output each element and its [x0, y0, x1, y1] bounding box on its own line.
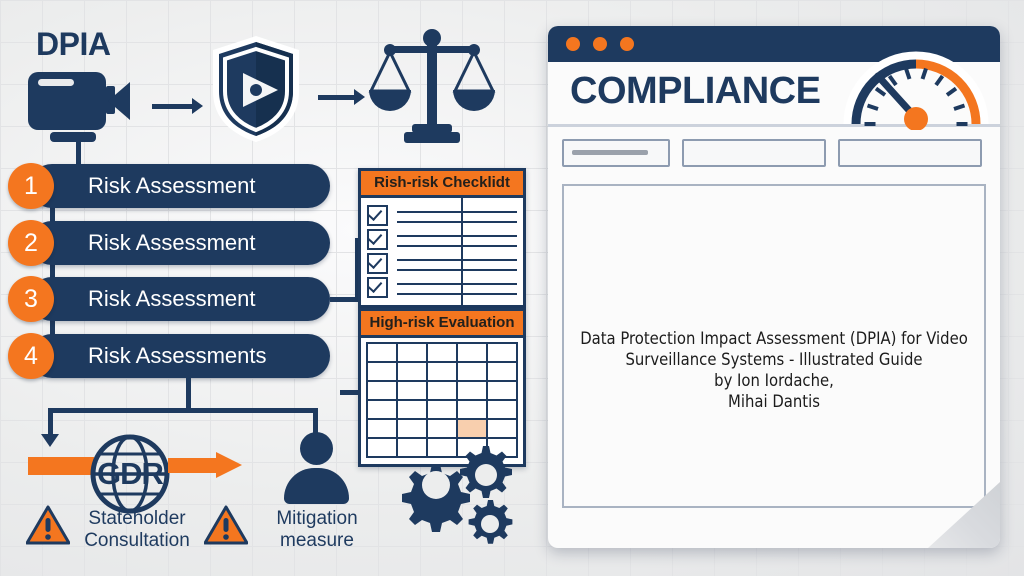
orange-arrow-icon — [168, 452, 240, 478]
row-lines — [397, 279, 517, 296]
mitigation-line1: Mitigation — [252, 508, 382, 530]
grid-cell — [488, 344, 518, 363]
grid-cell — [368, 363, 398, 382]
grid-cell — [458, 363, 488, 382]
toolbar-field-3[interactable] — [838, 139, 982, 167]
mitigation-line2: measure — [252, 530, 382, 552]
checklist-row[interactable] — [361, 203, 523, 227]
checkbox-checked[interactable] — [367, 277, 388, 298]
grid-cell-highlighted — [458, 420, 488, 439]
row-lines — [397, 255, 517, 272]
step-badge: 1 — [8, 163, 54, 209]
arrow-camera-to-shield — [152, 104, 194, 109]
person-icon — [280, 432, 352, 504]
evaluation-grid — [366, 342, 518, 458]
grid-cell — [398, 420, 428, 439]
grid-cell — [368, 382, 398, 401]
browser-header: COMPLIANCE — [548, 62, 1000, 127]
evaluation-panel-title: High-risk Evaluation — [361, 311, 523, 338]
grid-cell — [428, 344, 458, 363]
connector-branch-left-v — [48, 408, 53, 436]
toolbar-field-1[interactable] — [562, 139, 670, 167]
connector-eval-left — [340, 390, 360, 395]
grid-cell — [488, 420, 518, 439]
checkbox-checked[interactable] — [367, 229, 388, 250]
grid-cell — [488, 363, 518, 382]
grid-cell — [458, 401, 488, 420]
step-badge: 4 — [8, 333, 54, 379]
row-lines — [397, 231, 517, 248]
video-camera-icon — [28, 68, 146, 140]
dpia-title: DPIA — [36, 26, 110, 63]
grid-cell — [428, 401, 458, 420]
checklist-row[interactable] — [361, 251, 523, 275]
browser-window[interactable]: COMPLIANCE — [548, 26, 1000, 548]
grid-cell — [398, 344, 428, 363]
row-lines — [397, 207, 517, 224]
shield-play-icon — [208, 33, 304, 145]
warning-triangle-icon — [26, 505, 70, 545]
checklist-row[interactable] — [361, 227, 523, 251]
step-badge: 3 — [8, 276, 54, 322]
gears-icon — [388, 442, 528, 560]
arrow-shield-to-scales — [318, 95, 356, 100]
warning-triangle-icon — [204, 505, 248, 545]
step-item-2[interactable]: 2 Risk Assessment — [30, 221, 330, 265]
book-title-line2: Surveillance Systems - Illustrated Guide — [564, 349, 984, 370]
stakeholder-line2: Consultation — [72, 530, 202, 552]
document-canvas: Data Protection Impact Assessment (DPIA)… — [562, 184, 986, 508]
grid-cell — [488, 401, 518, 420]
grid-cell — [368, 344, 398, 363]
orange-bar — [28, 457, 94, 475]
grid-cell — [368, 420, 398, 439]
grid-cell — [428, 420, 458, 439]
book-title-block: Data Protection Impact Assessment (DPIA)… — [564, 328, 984, 412]
connector-step4-v — [186, 378, 191, 412]
step-item-3[interactable]: 3 Risk Assessment — [30, 277, 330, 321]
grid-cell — [458, 382, 488, 401]
checklist-row[interactable] — [361, 275, 523, 299]
checklist-panel-title: Rish-risk Checklidt — [361, 171, 523, 198]
grid-cell — [458, 344, 488, 363]
stakeholder-line1: Stateholder — [72, 508, 202, 530]
step-label: Risk Assessments — [88, 334, 267, 378]
step-item-1[interactable]: 1 Risk Assessment — [30, 164, 330, 208]
grid-cell — [398, 363, 428, 382]
grid-cell — [398, 401, 428, 420]
grid-cell — [428, 363, 458, 382]
gdr-globe-icon: GDR — [88, 432, 172, 516]
traffic-light-maximize-icon[interactable] — [620, 37, 634, 51]
checklist-panel: Rish-risk Checklidt — [358, 168, 526, 308]
gdr-label: GDR — [88, 432, 172, 516]
infographic-canvas: DPIA — [0, 0, 1024, 576]
grid-cell — [428, 382, 458, 401]
arrowhead-down-left — [41, 434, 59, 447]
step-label: Risk Assessment — [88, 277, 256, 321]
stakeholder-caption: Stateholder Consultation — [72, 508, 202, 552]
step-item-4[interactable]: 4 Risk Assessments — [30, 334, 330, 378]
compliance-gauge-icon — [840, 38, 992, 130]
checkbox-checked[interactable] — [367, 253, 388, 274]
book-author-line2: Mihai Dantis — [564, 391, 984, 412]
traffic-light-close-icon[interactable] — [566, 37, 580, 51]
connector-branch-h — [48, 408, 318, 413]
browser-toolbar — [548, 127, 1000, 167]
book-author-line1: by Ion Iordache, — [564, 370, 984, 391]
mitigation-caption: Mitigation measure — [252, 508, 382, 552]
checkbox-checked[interactable] — [367, 205, 388, 226]
step-badge: 2 — [8, 220, 54, 266]
step-label: Risk Assessment — [88, 164, 256, 208]
page-title: COMPLIANCE — [570, 70, 820, 113]
toolbar-field-2[interactable] — [682, 139, 826, 167]
step-label: Risk Assessment — [88, 221, 256, 265]
grid-cell — [398, 382, 428, 401]
traffic-light-minimize-icon[interactable] — [593, 37, 607, 51]
grid-cell — [368, 401, 398, 420]
grid-cell — [488, 382, 518, 401]
scales-of-justice-icon — [368, 28, 496, 146]
book-title-line1: Data Protection Impact Assessment (DPIA)… — [564, 328, 984, 349]
